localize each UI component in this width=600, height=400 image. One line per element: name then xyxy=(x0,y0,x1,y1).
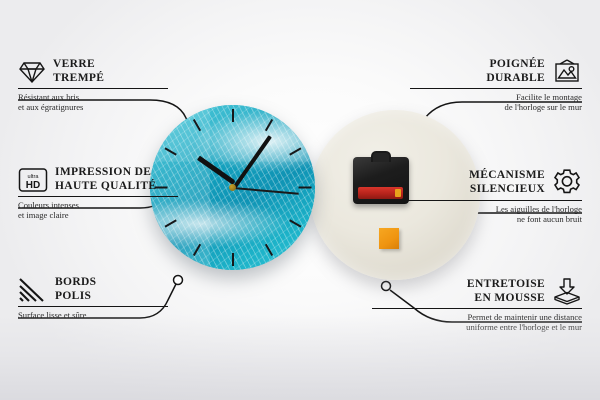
feature-title: ENTRETOISE EN MOUSSE xyxy=(467,278,545,305)
divider-rule xyxy=(18,196,178,197)
foam-spacer xyxy=(379,228,399,249)
polished-edges-icon xyxy=(18,277,48,303)
feature-title: POIGNÉE DURABLE xyxy=(486,58,545,85)
hanger-tab-icon xyxy=(371,151,391,162)
divider-rule xyxy=(18,88,168,89)
feature-description: Permet de maintenir une distance uniform… xyxy=(372,312,582,333)
feature-title: IMPRESSION DE HAUTE QUALITÉ xyxy=(55,166,156,193)
feature-description: Résistant aux bris et aux égratignures xyxy=(18,92,168,113)
divider-rule xyxy=(406,200,582,201)
svg-text:HD: HD xyxy=(26,180,40,191)
feature-verre-trempe: VERRE TREMPÉ Résistant aux bris et aux é… xyxy=(18,58,168,113)
diamond-icon xyxy=(18,59,46,85)
feature-poignee-durable: POIGNÉE DURABLE Facilite le montage de l… xyxy=(410,58,582,113)
feature-title: BORDS POLIS xyxy=(55,276,96,303)
feature-description: Les aiguilles de l'horloge ne font aucun… xyxy=(406,204,582,225)
foam-spacer-icon xyxy=(552,278,582,305)
feature-bords-polis: BORDS POLIS Surface lisse et sûre xyxy=(18,276,168,320)
hour-marker xyxy=(232,253,234,266)
feature-entretoise-en-mousse: ENTRETOISE EN MOUSSE Permet de maintenir… xyxy=(372,278,582,333)
ultra-hd-icon: ultra HD xyxy=(18,167,48,193)
product-infographic: VERRE TREMPÉ Résistant aux bris et aux é… xyxy=(0,0,600,400)
divider-rule xyxy=(18,306,168,307)
feature-impression-haute-qualite: ultra HD IMPRESSION DE HAUTE QUALITÉ Cou… xyxy=(18,166,178,221)
hands-center-cap xyxy=(229,184,236,191)
clock-mechanism xyxy=(353,157,409,204)
battery xyxy=(358,187,403,199)
feature-description: Couleurs intenses et image claire xyxy=(18,200,178,221)
gear-icon xyxy=(552,168,582,197)
feature-title: MÉCANISME SILENCIEUX xyxy=(469,169,545,196)
feature-mecanisme-silencieux: MÉCANISME SILENCIEUX Les aiguilles de l'… xyxy=(406,168,582,225)
feature-description: Facilite le montage de l'horloge sur le … xyxy=(410,92,582,113)
wall-hanger-icon xyxy=(552,58,582,85)
divider-rule xyxy=(372,308,582,309)
feature-description: Surface lisse et sûre xyxy=(18,310,168,320)
feature-title: VERRE TREMPÉ xyxy=(53,58,104,85)
hour-marker xyxy=(298,187,311,189)
connector-dot-bords-polis xyxy=(174,276,183,285)
battery-plus-terminal xyxy=(395,189,401,197)
divider-rule xyxy=(410,88,582,89)
hour-marker xyxy=(232,109,234,122)
